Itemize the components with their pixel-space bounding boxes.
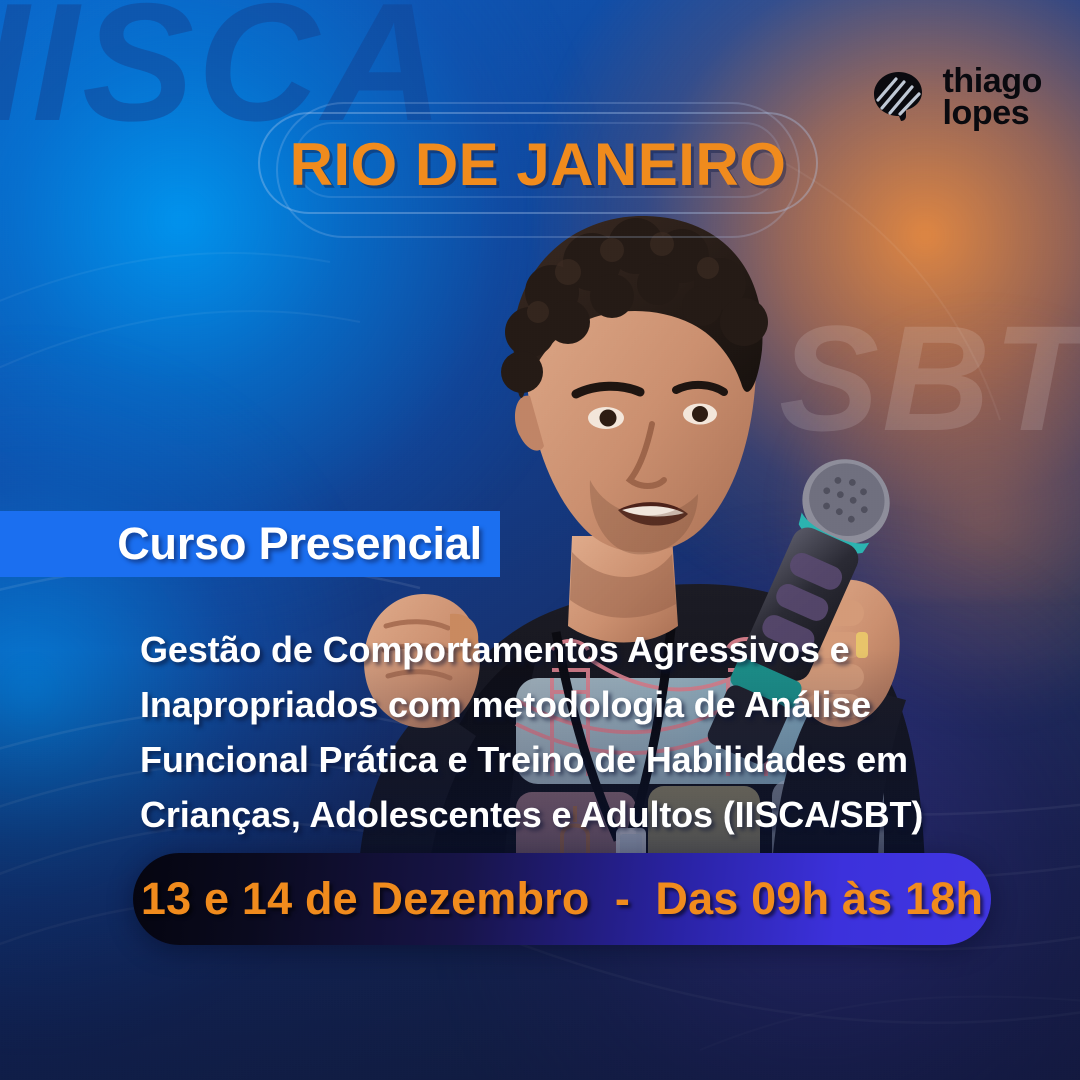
logo-line-2: lopes xyxy=(942,98,1042,130)
description-line: Gestão de Comportamentos Agressivos e xyxy=(140,622,1000,677)
promo-poster: IISCA SBT xyxy=(0,0,1080,1080)
description-line: Inapropriados com metodologia de Análise xyxy=(140,677,1000,732)
brain-head-icon xyxy=(868,70,930,126)
brand-logo[interactable]: thiago lopes xyxy=(868,66,1042,129)
city-title-block: RIO DE JANEIRO xyxy=(258,108,818,220)
date-time-label: 13 e 14 de Dezembro - Das 09h às 18h xyxy=(141,873,983,925)
logo-line-1: thiago xyxy=(942,66,1042,98)
logo-wordmark: thiago lopes xyxy=(942,66,1042,129)
date-time-pill: 13 e 14 de Dezembro - Das 09h às 18h xyxy=(133,853,991,945)
description-line: Crianças, Adolescentes e Adultos (IISCA/… xyxy=(140,787,1000,842)
course-type-banner: Curso Presencial xyxy=(0,511,500,577)
city-title: RIO DE JANEIRO xyxy=(258,108,818,220)
course-description: Gestão de Comportamentos Agressivos e In… xyxy=(140,622,1000,842)
course-type-label: Curso Presencial xyxy=(117,518,482,570)
description-line: Funcional Prática e Treino de Habilidade… xyxy=(140,732,1000,787)
